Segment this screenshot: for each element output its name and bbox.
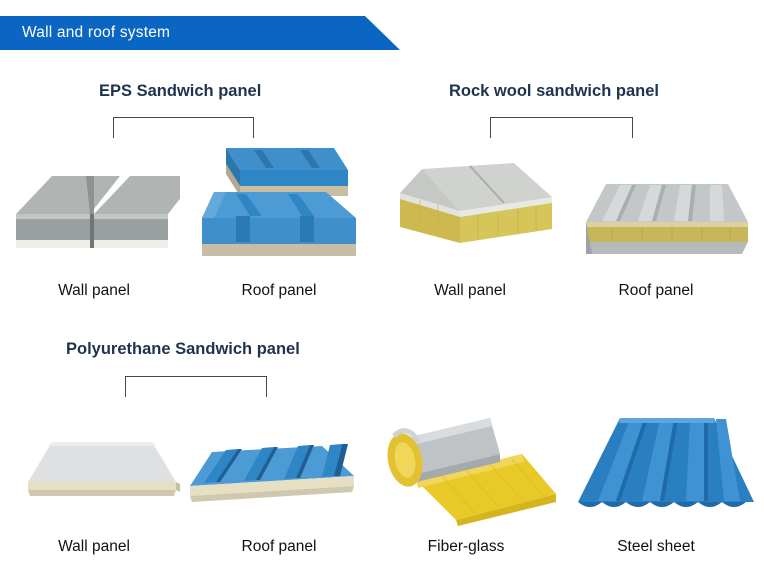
caption-fiberglass: Fiber-glass bbox=[428, 538, 505, 556]
rockwool-roof-panel-image bbox=[572, 176, 754, 266]
section-title-polyurethane: Polyurethane Sandwich panel bbox=[66, 340, 300, 359]
section-title-rockwool: Rock wool sandwich panel bbox=[449, 82, 659, 101]
product-catalog-page: Wall and roof system EPS Sandwich panel … bbox=[0, 0, 764, 570]
section-bracket-rockwool bbox=[490, 117, 633, 138]
caption-rockwool-wall: Wall panel bbox=[434, 282, 506, 300]
polyurethane-roof-panel-image bbox=[182, 428, 360, 522]
eps-roof-panel-image bbox=[196, 140, 366, 266]
eps-wall-panel-image bbox=[8, 152, 180, 267]
caption-pu-roof: Roof panel bbox=[242, 538, 317, 556]
fiberglass-roll-image bbox=[372, 402, 560, 526]
caption-pu-wall: Wall panel bbox=[58, 538, 130, 556]
steel-sheet-image bbox=[568, 404, 760, 524]
section-bracket-eps bbox=[113, 117, 254, 138]
rockwool-wall-panel-image bbox=[386, 155, 562, 265]
section-bracket-polyurethane bbox=[125, 376, 267, 397]
caption-rockwool-roof: Roof panel bbox=[619, 282, 694, 300]
page-header-banner: Wall and roof system bbox=[0, 16, 400, 50]
page-title: Wall and roof system bbox=[22, 16, 170, 50]
caption-eps-roof: Roof panel bbox=[242, 282, 317, 300]
caption-eps-wall: Wall panel bbox=[58, 282, 130, 300]
caption-steel-sheet: Steel sheet bbox=[617, 538, 695, 556]
section-title-eps: EPS Sandwich panel bbox=[99, 82, 261, 101]
polyurethane-wall-panel-image bbox=[16, 428, 184, 522]
